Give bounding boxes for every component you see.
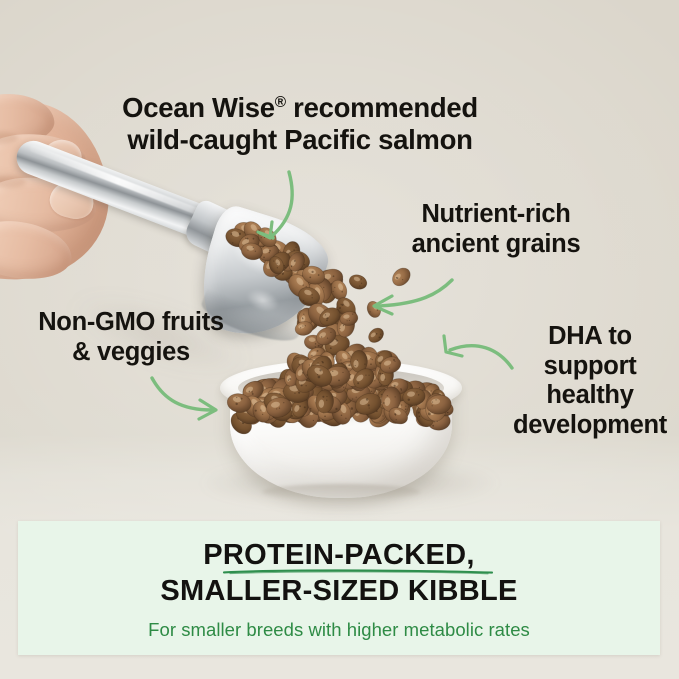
callout-salmon-line1: Ocean Wise xyxy=(122,92,275,123)
callout-dha-line2: support xyxy=(544,352,637,380)
bowl-base-shadow xyxy=(262,484,420,500)
callout-dha-line3: healthy xyxy=(546,381,633,409)
banner-headline-line2: SMALLER-SIZED KIBBLE xyxy=(18,575,660,608)
banner-subtitle: For smaller breeds with higher metabolic… xyxy=(18,619,660,641)
callout-grains-line2: ancient grains xyxy=(412,230,581,258)
callout-fruits-line2: & veggies xyxy=(72,338,190,366)
dog-bowl xyxy=(218,358,464,508)
callout-salmon-line2: wild-caught Pacific salmon xyxy=(127,124,472,155)
headline-underline xyxy=(222,568,494,575)
callout-salmon-line1-rest: recommended xyxy=(286,92,478,123)
kibble-in-scoop xyxy=(232,222,372,332)
infographic-canvas: Ocean Wise® recommended wild-caught Paci… xyxy=(0,0,679,679)
callout-grains-line1: Nutrient-rich xyxy=(421,200,570,228)
callout-dha-line4: development xyxy=(513,411,667,439)
bowl-interior xyxy=(238,368,444,408)
callout-fruits-line1: Non-GMO fruits xyxy=(38,308,224,336)
callout-dha-line1: DHA to xyxy=(548,322,632,350)
callout-salmon: Ocean Wise® recommended wild-caught Paci… xyxy=(112,92,488,156)
callout-dha: DHA to support healthy development xyxy=(506,322,674,440)
callout-fruits: Non-GMO fruits & veggies xyxy=(18,308,244,367)
callout-grains: Nutrient-rich ancient grains xyxy=(396,200,596,259)
registered-trademark-icon: ® xyxy=(275,94,286,111)
bottom-banner: PROTEIN-PACKED, SMALLER-SIZED KIBBLE For… xyxy=(18,521,660,655)
